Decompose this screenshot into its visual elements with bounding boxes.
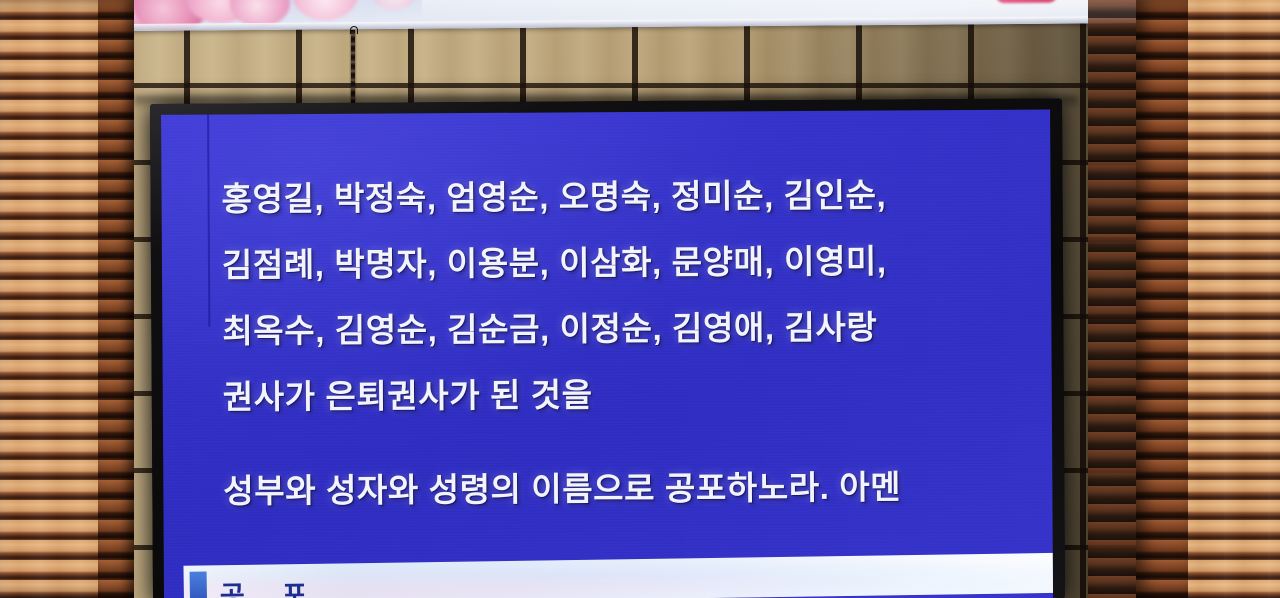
slide-closing-line: 성부와 성자와 성령의 이름으로 공포하노라. 아멘 (223, 453, 1052, 524)
strip-accent-marker (190, 571, 208, 598)
wood-slat-panel-left (0, 0, 134, 598)
slide-content: 홍영길, 박정숙, 엄영순, 오명숙, 정미순, 김인순, 김점례, 박명자, … (161, 110, 1053, 598)
slide-text-line: 최옥수, 김영순, 김순금, 이정순, 김영애, 김사랑 (222, 293, 1051, 364)
banner-pink-accent (996, 0, 1058, 3)
slide-text-line: 김점례, 박명자, 이용분, 이삼화, 문양매, 이영미, (222, 227, 1051, 298)
wood-slat-panel-right (1136, 0, 1280, 598)
screen-display-area[interactable]: 홍영길, 박정숙, 엄영순, 오명숙, 정미순, 김인순, 김점례, 박명자, … (161, 110, 1053, 598)
flower-icon (230, 0, 290, 27)
wood-slat-panel-right-inner (1088, 0, 1140, 598)
strip-title-text: 공 포 (220, 573, 323, 598)
wood-slat-corner-right (1136, 0, 1188, 598)
wood-slat-edge-left (98, 0, 134, 598)
flower-icon (292, 0, 358, 21)
sanctuary-scene: 홍영길, 박정숙, 엄영순, 오명숙, 정미순, 김인순, 김점례, 박명자, … (0, 0, 1280, 598)
slide-text-line: 권사가 은퇴권사가 된 것을 (223, 359, 1052, 430)
flower-icon (372, 0, 416, 10)
led-presentation-screen[interactable]: 홍영길, 박정숙, 엄영순, 오명숙, 정미순, 김인순, 김점례, 박명자, … (150, 98, 1065, 598)
slide-text-line: 홍영길, 박정숙, 엄영순, 오명숙, 정미순, 김인순, (221, 162, 1050, 233)
